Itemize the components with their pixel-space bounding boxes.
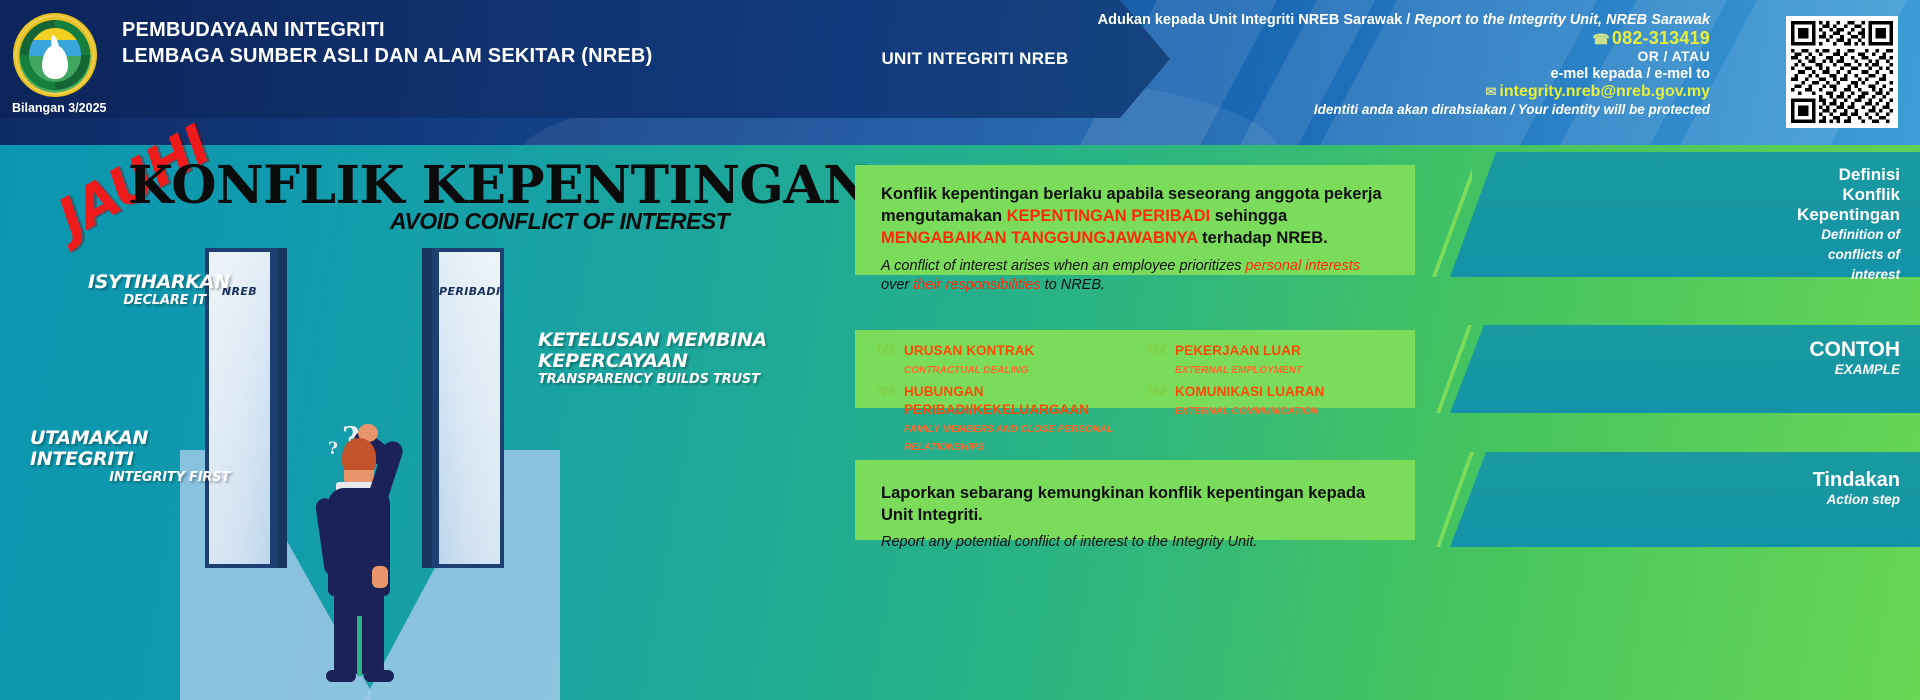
definition-en-part3: to NREB. (1041, 277, 1105, 293)
callout-declare: ISYTIHARKAN DECLARE IT (88, 272, 206, 308)
action-text-my: Laporkan sebarang kemungkinan konflik ke… (881, 482, 1389, 526)
report-line: Adukan kepada Unit Integriti NREB Sarawa… (1010, 12, 1710, 30)
door-left-nreb: NREB (205, 248, 277, 568)
identity-protected-note: Identiti anda akan dirahsiakan / Your id… (1010, 101, 1710, 119)
example-item[interactable]: PEKERJAAN LUAR EXTERNAL EMPLOYMENT (1148, 342, 1393, 378)
callout-transparency-my: KETELUSAN MEMBINA KEPERCAYAAN (538, 330, 808, 372)
org-title-line2: LEMBAGA SUMBER ASLI DAN ALAM SEKITAR (NR… (122, 43, 652, 69)
tab-examples[interactable]: CONTOH EXAMPLE (1440, 340, 1900, 380)
phone-icon: ☎ (1592, 31, 1610, 47)
contact-block: Adukan kepada Unit Integriti NREB Sarawa… (1010, 12, 1710, 118)
example-item[interactable]: URUSAN KONTRAK CONTRACTUAL DEALING (877, 342, 1122, 378)
poster-header: PEMBUDAYAAN INTEGRITI LEMBAGA SUMBER ASL… (0, 0, 1920, 145)
confused-man-illustration (318, 420, 428, 690)
example-title-my: PEKERJAAN LUAR (1175, 343, 1301, 358)
definition-text-my: Konflik kepentingan berlaku apabila sese… (881, 183, 1389, 249)
panel-definition: Konflik kepentingan berlaku apabila sese… (855, 165, 1415, 275)
infographic-poster: PEMBUDAYAAN INTEGRITI LEMBAGA SUMBER ASL… (0, 0, 1920, 700)
door-left-shadow (277, 248, 287, 568)
example-item[interactable]: HUBUNGAN PERIBADI/KEKELUARGAAN FAMILY ME… (877, 383, 1122, 455)
definition-my-part2: sehingga (1210, 207, 1287, 225)
report-label-my: Adukan kepada Unit Integriti NREB Sarawa… (1098, 12, 1415, 28)
callout-transparency-en: TRANSPARENCY BUILDS TRUST (538, 372, 808, 387)
tab-definition-line3: Kepentingan (1440, 205, 1900, 225)
example-title-my: URUSAN KONTRAK (904, 343, 1034, 358)
doors-illustration: NREB PERIBADI ? ? ? (0, 145, 850, 700)
tab-definition-line1: Definisi (1440, 165, 1900, 185)
org-title-line1: PEMBUDAYAAN INTEGRITI (122, 17, 652, 43)
callout-integrity-my: UTAMAKAN INTEGRITI (30, 428, 230, 470)
phone-line[interactable]: ☎082-313419 (1010, 30, 1710, 49)
example-title-en: CONTRACTUAL DEALING (904, 365, 1028, 376)
examples-grid: URUSAN KONTRAK CONTRACTUAL DEALING HUBUN… (877, 342, 1393, 460)
email-line[interactable]: ✉integrity.nreb@nreb.gov.my (1010, 83, 1710, 101)
tab-action-en: Action step (1440, 490, 1900, 510)
tab-examples-en: EXAMPLE (1440, 360, 1900, 380)
arrows-icon (1148, 383, 1168, 395)
example-title-en: EXTERNAL COMMUNICATION (1175, 406, 1318, 417)
tab-definition-en2: conflicts of (1440, 245, 1900, 265)
callout-declare-my: ISYTIHARKAN (88, 272, 206, 293)
tab-action-title: Tindakan (1440, 470, 1900, 490)
envelope-icon: ✉ (1486, 84, 1497, 99)
definition-en-part2: over (881, 277, 913, 293)
definition-en-part1: A conflict of interest arises when an em… (881, 258, 1246, 274)
callout-declare-en: DECLARE IT (88, 293, 206, 308)
examples-column-right: PEKERJAAN LUAR EXTERNAL EMPLOYMENT KOMUN… (1148, 342, 1393, 460)
header-org-title: PEMBUDAYAAN INTEGRITI LEMBAGA SUMBER ASL… (122, 17, 652, 69)
callout-integrity: UTAMAKAN INTEGRITI INTEGRITY FIRST (30, 428, 230, 485)
action-text-en: Report any potential conflict of interes… (881, 534, 1389, 550)
arrows-icon (877, 383, 897, 395)
callout-transparency: KETELUSAN MEMBINA KEPERCAYAAN TRANSPAREN… (538, 330, 808, 387)
example-title-en: FAMILY MEMBERS AND CLOSE PERSONAL RELATI… (904, 424, 1113, 453)
panel-action: Laporkan sebarang kemungkinan konflik ke… (855, 460, 1415, 540)
nreb-logo-icon (13, 13, 97, 97)
issue-number: Bilangan 3/2025 (12, 101, 107, 115)
definition-en-highlight1: personal interests (1246, 258, 1360, 274)
report-label-en: Report to the Integrity Unit, NREB Saraw… (1414, 12, 1710, 28)
qr-code[interactable] (1786, 16, 1898, 128)
door-right-peribadi: PERIBADI (432, 248, 504, 568)
tab-definition-en3: interest (1440, 265, 1900, 285)
door-right-label: PERIBADI (439, 285, 500, 298)
example-title-my: HUBUNGAN PERIBADI/KEKELUARGAAN (904, 384, 1089, 417)
phone-number: 082-313419 (1612, 28, 1710, 48)
tab-definition[interactable]: Definisi Konflik Kepentingan Definition … (1440, 165, 1900, 285)
tab-definition-en1: Definition of (1440, 225, 1900, 245)
definition-text-en: A conflict of interest arises when an em… (881, 257, 1389, 295)
or-separator: OR / ATAU (1010, 48, 1710, 66)
arrows-icon (877, 342, 897, 354)
email-label: e-mel kepada / e-mel to (1010, 66, 1710, 84)
tab-action[interactable]: Tindakan Action step (1440, 470, 1900, 510)
definition-my-highlight1: KEPENTINGAN PERIBADI (1007, 207, 1211, 225)
arrows-icon (1148, 342, 1168, 354)
panel-examples: URUSAN KONTRAK CONTRACTUAL DEALING HUBUN… (855, 330, 1415, 408)
callout-integrity-en: INTEGRITY FIRST (30, 470, 230, 485)
definition-my-part3: terhadap NREB. (1198, 229, 1328, 247)
tab-definition-line2: Konflik (1440, 185, 1900, 205)
definition-en-highlight2: their responsibilities (913, 277, 1040, 293)
email-address: integrity.nreb@nreb.gov.my (1499, 83, 1710, 100)
definition-my-highlight2: MENGABAIKAN TANGGUNGJAWABNYA (881, 229, 1198, 247)
example-title-my: KOMUNIKASI LUARAN (1175, 384, 1324, 399)
qr-code-icon (1791, 21, 1893, 123)
example-title-en: EXTERNAL EMPLOYMENT (1175, 365, 1302, 376)
examples-column-left: URUSAN KONTRAK CONTRACTUAL DEALING HUBUN… (877, 342, 1122, 460)
example-item[interactable]: KOMUNIKASI LUARAN EXTERNAL COMMUNICATION (1148, 383, 1393, 419)
tab-examples-title: CONTOH (1440, 340, 1900, 360)
